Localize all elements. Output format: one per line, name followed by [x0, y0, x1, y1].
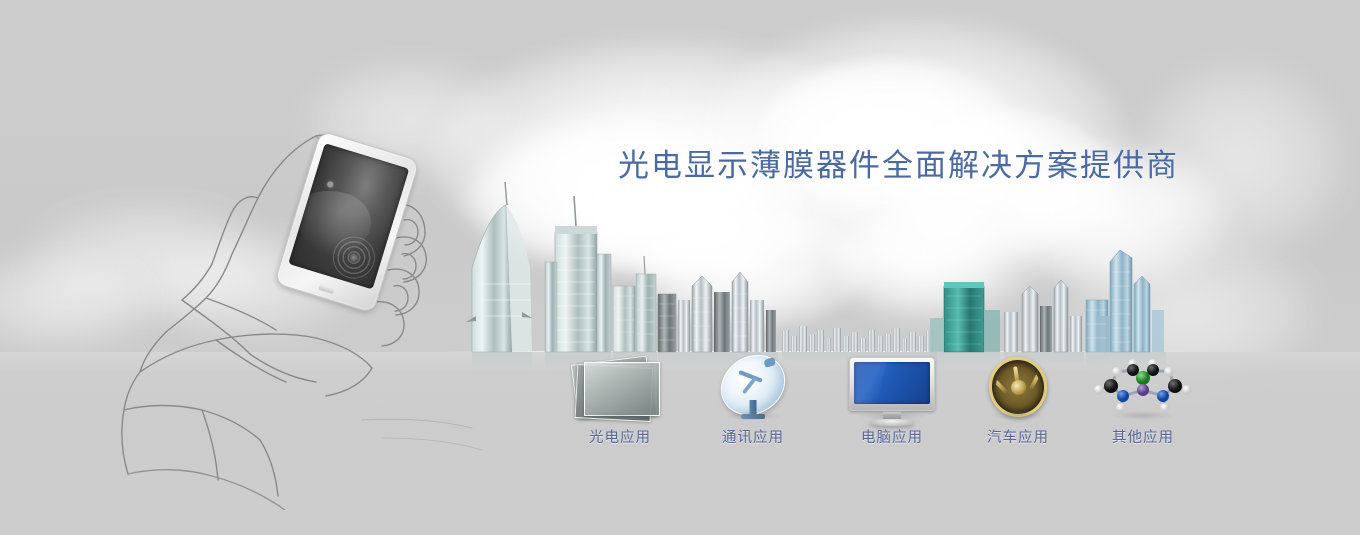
application-item-automotive[interactable]: 汽车应用 [958, 356, 1078, 447]
page-title: 光电显示薄膜器件全面解决方案提供商 [618, 140, 1179, 185]
application-item-other[interactable]: 其他应用 [1083, 356, 1203, 447]
car-wheel-icon [962, 356, 1074, 418]
satellite-dish-icon [697, 356, 809, 418]
application-label: 汽车应用 [958, 426, 1078, 447]
hero-banner: 光电显示薄膜器件全面解决方案提供商 光电应用 [0, 0, 1360, 535]
application-label: 电脑应用 [832, 426, 952, 447]
application-label: 光电应用 [560, 426, 680, 447]
glass-panels-icon [564, 356, 676, 418]
application-item-communication[interactable]: 通讯应用 [693, 356, 813, 447]
molecule-icon [1087, 356, 1199, 418]
application-label: 其他应用 [1083, 426, 1203, 447]
application-icon-row: 光电应用 通讯应用 [560, 356, 1210, 466]
monitor-icon [836, 356, 948, 418]
application-label: 通讯应用 [693, 426, 813, 447]
phone-home-button [318, 285, 335, 294]
application-item-computer[interactable]: 电脑应用 [832, 356, 952, 447]
horizon-line [440, 351, 1200, 352]
application-item-optoelectronic[interactable]: 光电应用 [560, 356, 680, 447]
